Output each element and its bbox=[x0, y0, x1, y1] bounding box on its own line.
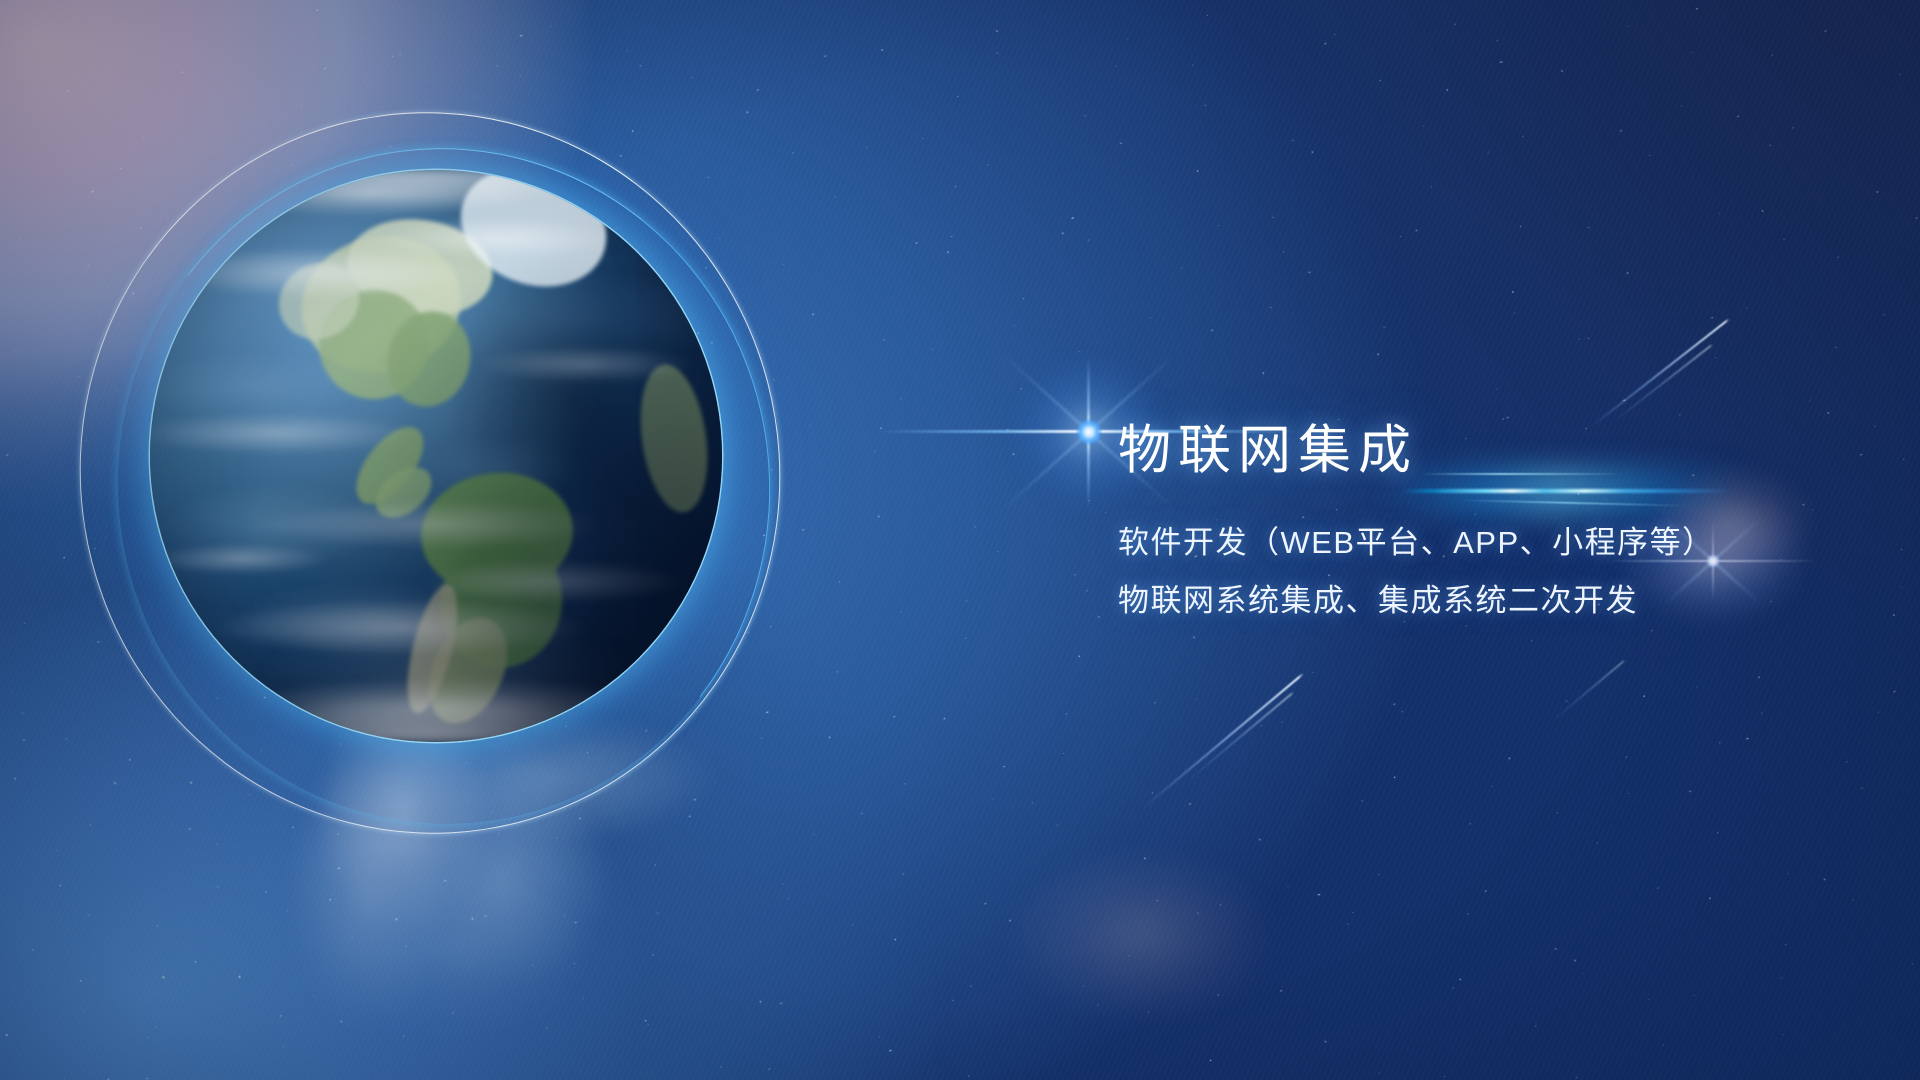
banner-stage: 物联网集成 软件开发（WEB平台、APP、小程序等） 物联网系统集成、集成系统二… bbox=[0, 0, 1920, 1080]
banner-subtitle-line-1: 软件开发（WEB平台、APP、小程序等） bbox=[1118, 527, 1878, 558]
banner-subtitle-line-2: 物联网系统集成、集成系统二次开发 bbox=[1118, 585, 1878, 616]
banner-headline: 物联网集成 bbox=[1118, 418, 1878, 484]
banner-text-block: 物联网集成 软件开发（WEB平台、APP、小程序等） 物联网系统集成、集成系统二… bbox=[1118, 418, 1878, 616]
